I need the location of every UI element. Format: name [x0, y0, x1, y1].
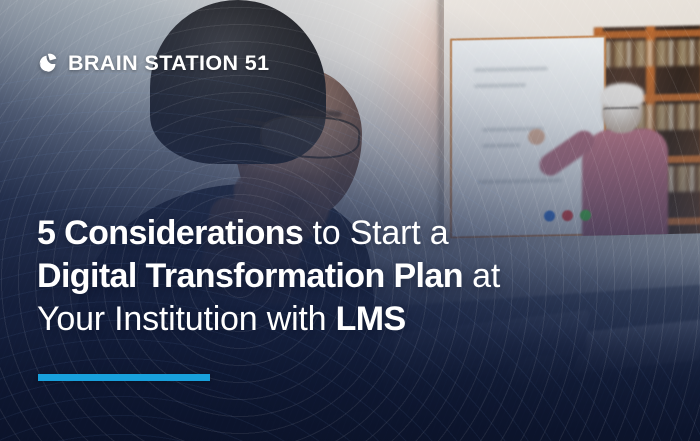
headline-line-2-rest: at	[463, 257, 500, 295]
brand-logo[interactable]: BRAIN STATION 51	[36, 52, 270, 75]
headline-block: 5 Considerations to Start a Digital Tran…	[37, 212, 677, 341]
headline-line-3: Your Institution with LMS	[37, 298, 677, 341]
accent-underline	[38, 374, 210, 381]
headline-line-2-strong: Digital Transformation Plan	[37, 257, 463, 295]
headline-line-1-strong: 5 Considerations	[37, 214, 303, 252]
headline-line-3-strong: LMS	[336, 300, 406, 338]
headline-line-2: Digital Transformation Plan at	[37, 255, 677, 298]
headline-line-3-rest: Your Institution with	[37, 300, 336, 338]
headline-line-1: 5 Considerations to Start a	[37, 212, 677, 255]
brain-pie-circle-icon	[36, 52, 59, 75]
brand-name: BRAIN STATION 51	[68, 53, 270, 75]
headline-line-1-rest: to Start a	[303, 214, 448, 252]
marketing-banner: BRAIN STATION 51 5 Considerations to Sta…	[0, 0, 700, 441]
